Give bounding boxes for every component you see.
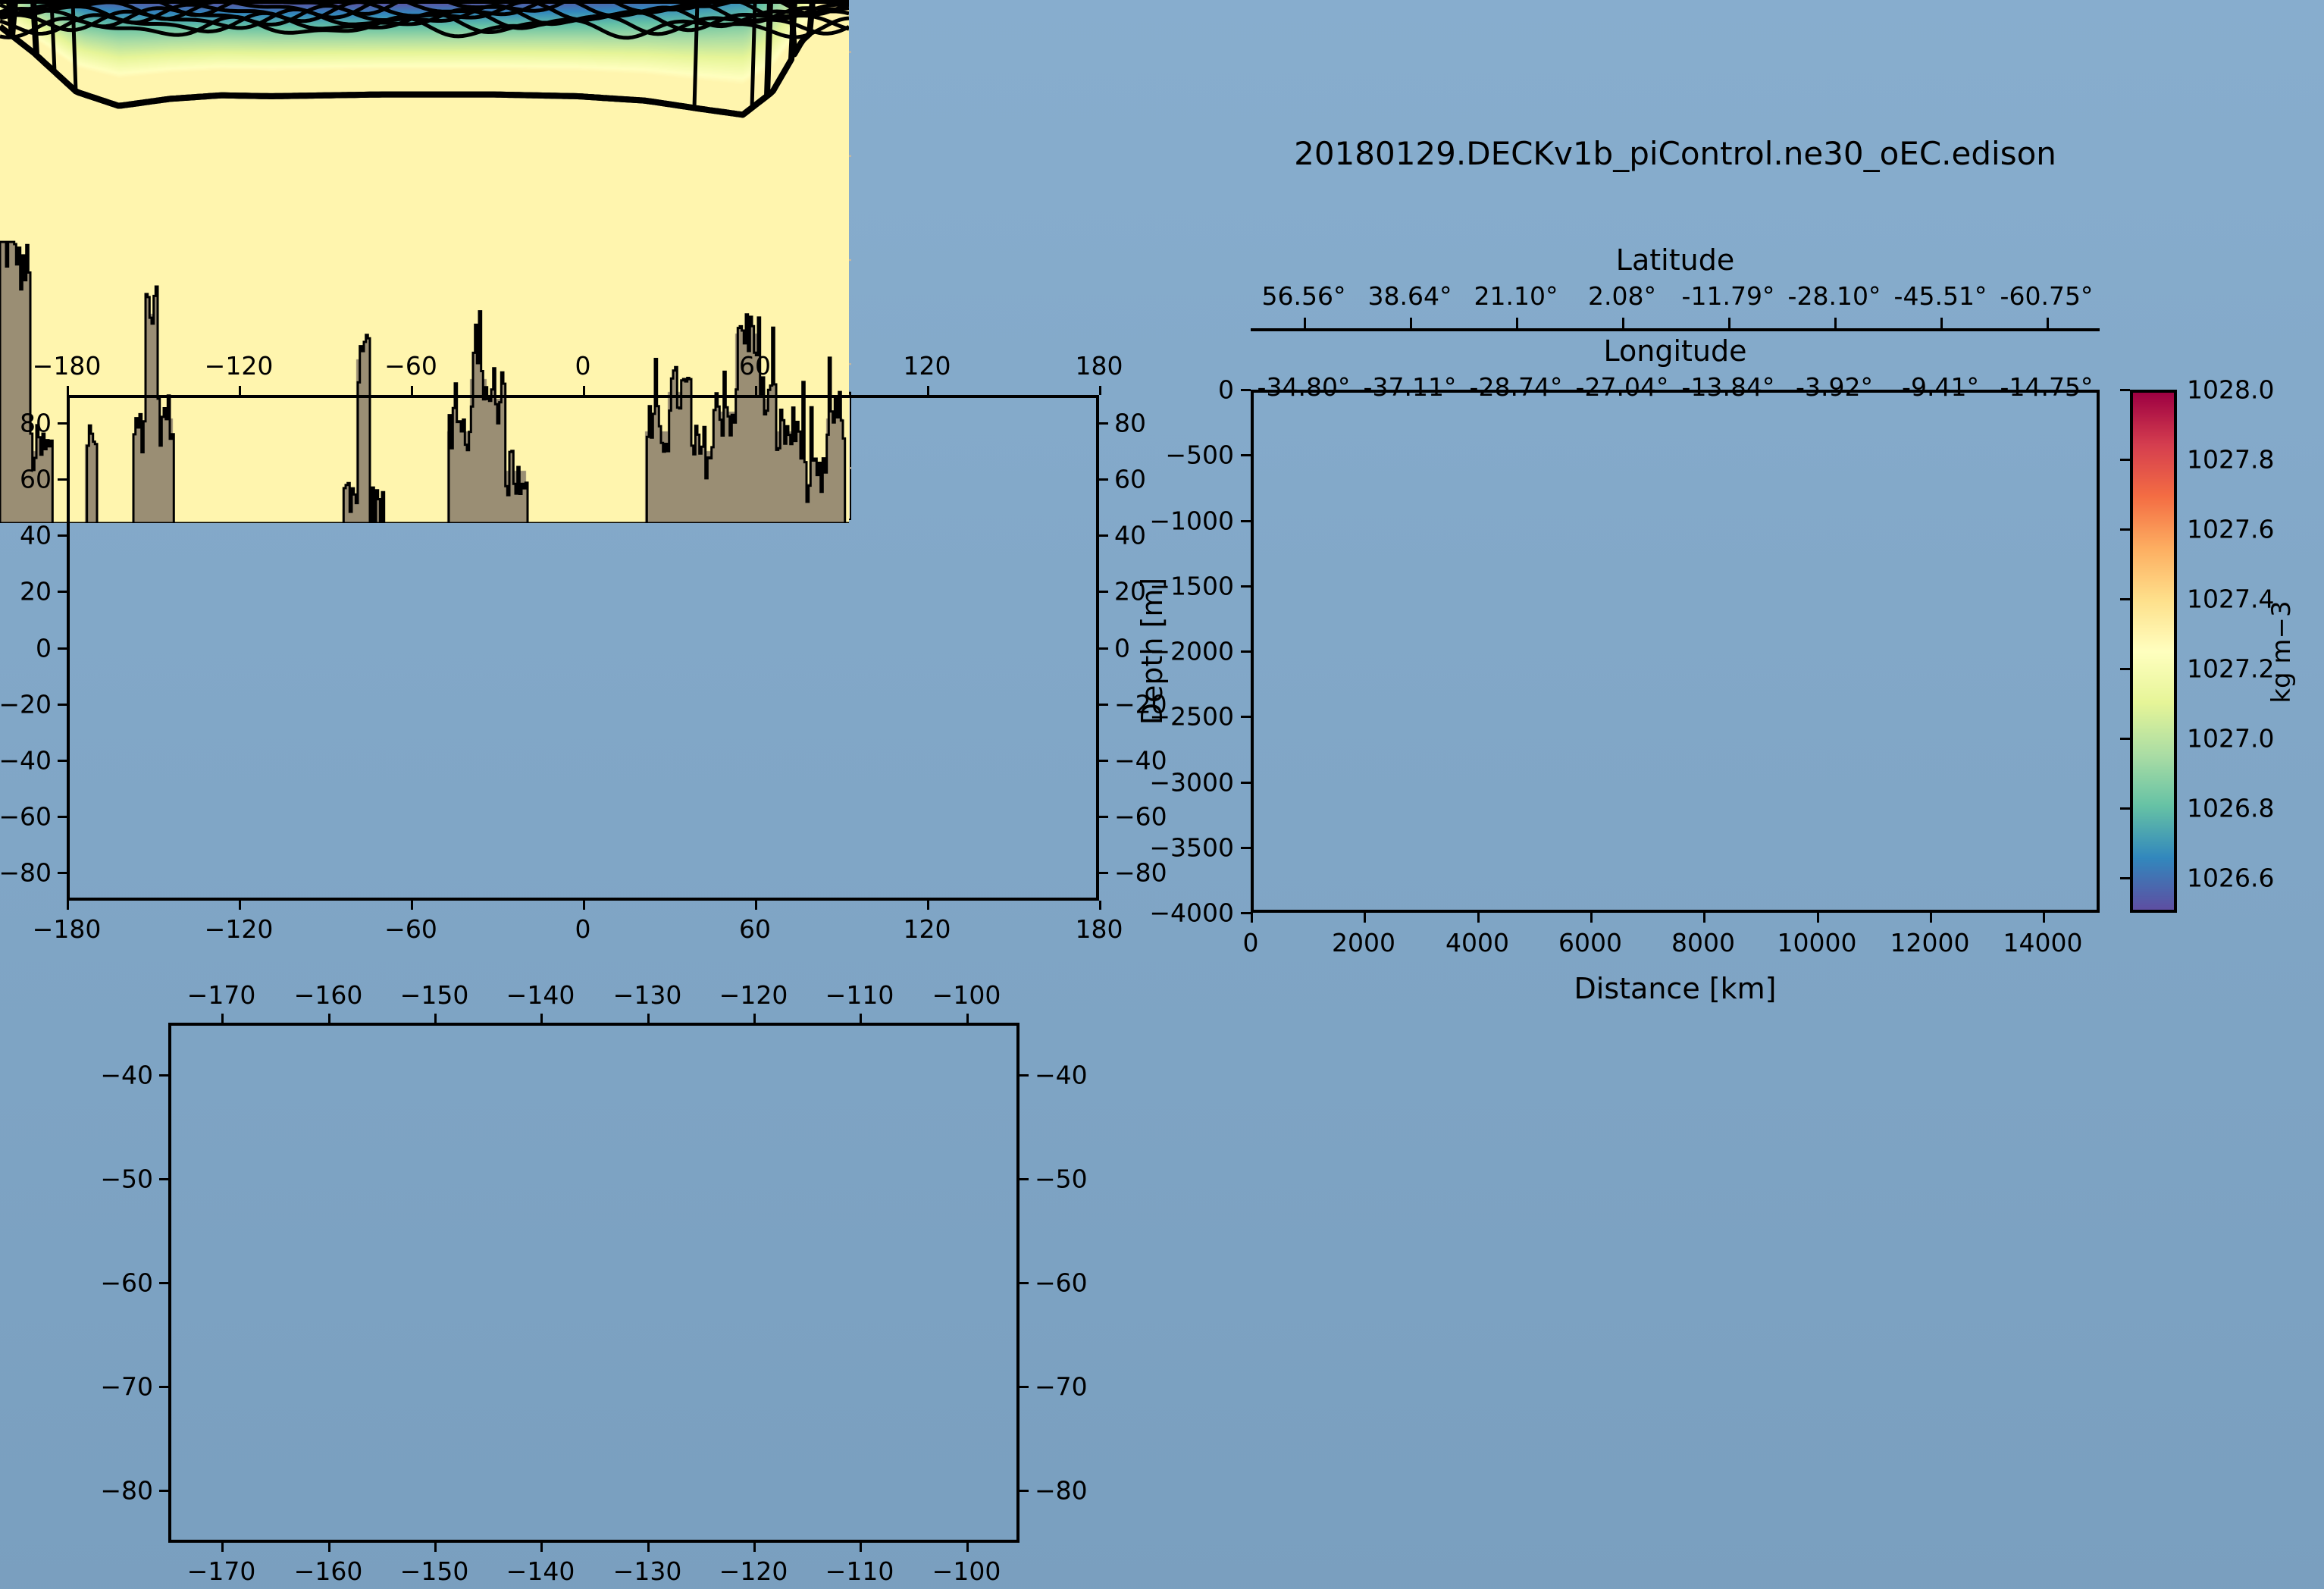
detail-xtick-top: [328, 1014, 330, 1023]
world-map-ytick-label-right: 60: [1114, 465, 1146, 494]
detail-ytick-right: [1019, 1490, 1029, 1492]
transect-ytick-label: 0: [1218, 375, 1234, 405]
detail-ytick-right: [1019, 1386, 1029, 1388]
detail-xtick-label-bottom: −130: [613, 1556, 682, 1586]
detail-xtick-label-bottom: −160: [294, 1556, 363, 1586]
world-map-xtick-label-top: 180: [1076, 351, 1123, 381]
detail-xtick-label-top: −120: [719, 980, 788, 1010]
detail-xtick-label-top: −160: [294, 980, 363, 1010]
world-map-ytick-label-left: 60: [20, 465, 52, 494]
latlon-tick: [1516, 318, 1518, 328]
world-map-xtick-bottom: [755, 901, 757, 910]
transect-xtick: [1817, 913, 1819, 923]
detail-ytick-label-left: −60: [100, 1268, 153, 1298]
transect-xtick-label: 12000: [1890, 928, 1970, 957]
world-map-xtick-top: [239, 386, 241, 395]
longitude-tick-label: -3.92°: [1796, 372, 1873, 402]
detail-xtick-label-bottom: −150: [400, 1556, 469, 1586]
world-map-xtick-label-top: −60: [384, 351, 437, 381]
detail-xtick-label-top: −130: [613, 980, 682, 1010]
transect-ytick: [1241, 650, 1251, 653]
detail-xtick-bottom: [328, 1543, 330, 1552]
colorbar-tick: [2120, 738, 2130, 740]
detail-xtick-top: [647, 1014, 650, 1023]
world-map-xtick-label-bottom: −180: [33, 914, 102, 944]
world-map-xtick-top: [755, 386, 757, 395]
detail-map[interactable]: [0, 506, 851, 1026]
world-map-ytick-right: [1099, 591, 1108, 593]
world-map-ytick-left: [58, 704, 67, 706]
transect-panel-title: 20180129.DECKv1b_piControl.ne30_oEC.edis…: [1294, 135, 2056, 172]
transect-xtick: [1703, 913, 1705, 923]
detail-ytick-label-right: −60: [1035, 1268, 1088, 1298]
detail-map-ocean: [0, 506, 851, 1026]
colorbar-tick-label: 1026.8: [2187, 794, 2274, 823]
detail-ytick-label-left: −50: [100, 1164, 153, 1194]
detail-xtick-top: [221, 1014, 224, 1023]
world-map-ytick-label-left: −20: [0, 690, 52, 719]
colorbar-tick-label: 1027.4: [2187, 585, 2274, 614]
detail-xtick-label-bottom: −110: [825, 1556, 894, 1586]
longitude-tick-label: -9.41°: [1902, 372, 1979, 402]
latitude-axis-label: Latitude: [1616, 243, 1734, 277]
detail-ytick-label-right: −50: [1035, 1164, 1088, 1194]
transect-ytick: [1241, 716, 1251, 718]
world-map-ytick-label-right: −60: [1114, 802, 1167, 832]
detail-xtick-label-top: −150: [400, 980, 469, 1010]
transect-xtick: [1590, 913, 1593, 923]
world-map-xtick-label-top: 0: [575, 351, 591, 381]
world-map-ytick-right: [1099, 872, 1108, 874]
latitude-tick-label: -45.51°: [1894, 281, 1987, 311]
world-map-ytick-left: [58, 872, 67, 874]
world-map-xtick-top: [1099, 386, 1101, 395]
world-map-ytick-left: [58, 760, 67, 762]
detail-xtick-label-bottom: −120: [719, 1556, 788, 1586]
detail-ytick-right: [1019, 1178, 1029, 1180]
world-map-xtick-bottom: [67, 901, 69, 910]
world-map-xtick-bottom: [583, 901, 585, 910]
transect-ytick: [1241, 782, 1251, 784]
detail-xtick-top: [753, 1014, 756, 1023]
transect-ytick: [1241, 520, 1251, 522]
detail-xtick-top: [860, 1014, 862, 1023]
transect-ytick-label: −4000: [1149, 898, 1234, 928]
latlon-tick: [1304, 318, 1306, 328]
transect-xtick: [2043, 913, 2045, 923]
world-map-ytick-label-right: 20: [1114, 577, 1146, 606]
latlon-tick: [1728, 318, 1730, 328]
colorbar-tick-label: 1026.6: [2187, 863, 2274, 893]
colorbar-tick: [2120, 389, 2130, 391]
transect-xlabel: Distance [km]: [1574, 972, 1777, 1005]
world-map-ytick-right: [1099, 647, 1108, 650]
latlon-tick: [1622, 318, 1624, 328]
world-map-xtick-top: [927, 386, 929, 395]
world-map-ytick-left: [58, 422, 67, 425]
detail-ytick-label-right: −70: [1035, 1372, 1088, 1402]
detail-xtick-label-bottom: −170: [187, 1556, 256, 1586]
world-map-xtick-top: [411, 386, 413, 395]
world-map-ytick-label-right: 80: [1114, 409, 1146, 438]
world-map-xtick-label-bottom: −60: [384, 914, 437, 944]
detail-ytick-left: [159, 1178, 168, 1180]
transect-xtick-label: 14000: [2003, 928, 2083, 957]
world-map-ytick-left: [58, 534, 67, 537]
latitude-tick-label: 56.56°: [1262, 281, 1346, 311]
detail-ytick-label-right: −80: [1035, 1476, 1088, 1506]
world-map-ytick-left: [58, 478, 67, 481]
detail-xtick-bottom: [540, 1543, 543, 1552]
latlon-tick: [1410, 318, 1412, 328]
colorbar-tick: [2120, 528, 2130, 531]
transect-xtick: [1930, 913, 1932, 923]
world-map-ytick-left: [58, 647, 67, 650]
colorbar-tick-label: 1027.0: [2187, 724, 2274, 754]
transect-xtick-label: 0: [1243, 928, 1259, 957]
transect-ytick: [1241, 454, 1251, 456]
world-map-ytick-label-left: 80: [20, 409, 52, 438]
detail-xtick-label-top: −170: [187, 980, 256, 1010]
detail-ytick-left: [159, 1386, 168, 1388]
world-map-xtick-bottom: [239, 901, 241, 910]
longitude-tick-label: -13.84°: [1682, 372, 1775, 402]
latitude-tick-label: 38.64°: [1368, 281, 1452, 311]
world-map-ytick-label-left: 40: [20, 521, 52, 550]
latitude-tick-label: -11.79°: [1682, 281, 1775, 311]
world-map-ytick-label-left: 0: [36, 634, 52, 663]
detail-xtick-top: [434, 1014, 437, 1023]
detail-xtick-label-top: −110: [825, 980, 894, 1010]
transect-xtick: [1477, 913, 1480, 923]
detail-ytick-label-left: −40: [100, 1061, 153, 1090]
transect-xtick-label: 4000: [1445, 928, 1509, 957]
world-map-ytick-left: [58, 816, 67, 818]
detail-xtick-label-top: −140: [506, 980, 575, 1010]
world-map-ytick-right: [1099, 816, 1108, 818]
transect-xtick-label: 10000: [1777, 928, 1857, 957]
colorbar-tick: [2120, 877, 2130, 879]
longitude-tick-label: -34.80°: [1258, 372, 1351, 402]
latlon-tick: [1834, 318, 1837, 328]
world-map-xtick-label-bottom: −120: [205, 914, 274, 944]
colorbar-tick-label: 1027.6: [2187, 515, 2274, 544]
longitude-tick-label: -37.11°: [1364, 372, 1457, 402]
world-map-xtick-label-bottom: 180: [1076, 914, 1123, 944]
colorbar-tick: [2120, 807, 2130, 810]
world-map-xtick-top: [583, 386, 585, 395]
world-map-xtick-label-top: 60: [739, 351, 771, 381]
detail-ytick-left: [159, 1490, 168, 1492]
world-map-ytick-right: [1099, 760, 1108, 762]
colorbar-unit-label: kg m−3: [2266, 600, 2297, 703]
world-map-ytick-label-left: −40: [0, 746, 52, 776]
transect-xtick-label: 8000: [1671, 928, 1735, 957]
world-map-xtick-top: [67, 386, 69, 395]
colorbar-tick: [2120, 459, 2130, 461]
detail-xtick-bottom: [221, 1543, 224, 1552]
colorbar[interactable]: [2130, 390, 2177, 913]
detail-xtick-label-bottom: −100: [932, 1556, 1001, 1586]
latitude-tick-label: 21.10°: [1474, 281, 1558, 311]
transect-ytick: [1241, 847, 1251, 849]
world-map-ytick-label-right: −20: [1114, 690, 1167, 719]
world-map-xtick-bottom: [927, 901, 929, 910]
world-map-xtick-label-top: −120: [205, 351, 274, 381]
detail-ytick-label-right: −40: [1035, 1061, 1088, 1090]
world-map-xtick-label-bottom: 120: [904, 914, 951, 944]
transect-ytick-label: −1000: [1149, 506, 1234, 536]
world-map-ytick-label-left: 20: [20, 577, 52, 606]
world-map-ytick-left: [58, 591, 67, 593]
world-map-ytick-label-right: −40: [1114, 746, 1167, 776]
detail-ytick-right: [1019, 1282, 1029, 1284]
colorbar-tick-label: 1027.2: [2187, 654, 2274, 684]
longitude-tick-label: -27.04°: [1576, 372, 1669, 402]
world-map-ytick-label-right: 0: [1114, 634, 1130, 663]
transect-ytick: [1241, 912, 1251, 914]
transect-ytick: [1241, 389, 1251, 391]
world-map-ytick-label-left: −60: [0, 802, 52, 832]
detail-ytick-left: [159, 1282, 168, 1284]
colorbar-gradient: [2133, 393, 2174, 910]
latlon-axis-line: [1251, 328, 2100, 331]
colorbar-tick: [2120, 668, 2130, 670]
latitude-tick-label: -60.75°: [2000, 281, 2094, 311]
transect-xtick-label: 2000: [1332, 928, 1395, 957]
detail-xtick-label-top: −100: [932, 980, 1001, 1010]
detail-ytick-label-left: −80: [100, 1476, 153, 1506]
world-map-ytick-label-right: 40: [1114, 521, 1146, 550]
world-map-xtick-bottom: [1099, 901, 1101, 910]
latlon-tick: [2047, 318, 2049, 328]
transect-xtick-label: 6000: [1558, 928, 1622, 957]
world-map-ytick-right: [1099, 704, 1108, 706]
transect-xtick: [1364, 913, 1366, 923]
transect-ytick-label: −500: [1165, 440, 1234, 470]
detail-xtick-bottom: [647, 1543, 650, 1552]
colorbar-tick-label: 1027.8: [2187, 445, 2274, 475]
transect-xtick: [1251, 913, 1253, 923]
world-map-xtick-label-top: −180: [33, 351, 102, 381]
world-map-ytick-right: [1099, 534, 1108, 537]
transect-ytick: [1241, 585, 1251, 588]
latitude-tick-label: 2.08°: [1588, 281, 1656, 311]
detail-xtick-label-bottom: −140: [506, 1556, 575, 1586]
colorbar-tick: [2120, 598, 2130, 600]
detail-xtick-bottom: [860, 1543, 862, 1552]
detail-xtick-bottom: [434, 1543, 437, 1552]
detail-xtick-bottom: [966, 1543, 969, 1552]
detail-xtick-bottom: [753, 1543, 756, 1552]
world-map-ytick-right: [1099, 478, 1108, 481]
latlon-tick: [1940, 318, 1943, 328]
colorbar-tick-label: 1028.0: [2187, 375, 2274, 405]
world-map-xtick-label-top: 120: [904, 351, 951, 381]
world-map-xtick-label-bottom: 60: [739, 914, 771, 944]
world-map-ytick-label-left: −80: [0, 858, 52, 888]
detail-xtick-top: [540, 1014, 543, 1023]
world-map-ytick-label-right: −80: [1114, 858, 1167, 888]
detail-ytick-right: [1019, 1074, 1029, 1077]
longitude-tick-label: -28.74°: [1470, 372, 1563, 402]
longitude-axis-label: Longitude: [1604, 334, 1747, 368]
detail-ytick-left: [159, 1074, 168, 1077]
latitude-tick-label: -28.10°: [1788, 281, 1881, 311]
world-map-ytick-right: [1099, 422, 1108, 425]
detail-ytick-label-left: −70: [100, 1372, 153, 1402]
longitude-tick-label: -14.75°: [2000, 372, 2094, 402]
world-map-xtick-label-bottom: 0: [575, 914, 591, 944]
world-map-xtick-bottom: [411, 901, 413, 910]
detail-xtick-top: [966, 1014, 969, 1023]
